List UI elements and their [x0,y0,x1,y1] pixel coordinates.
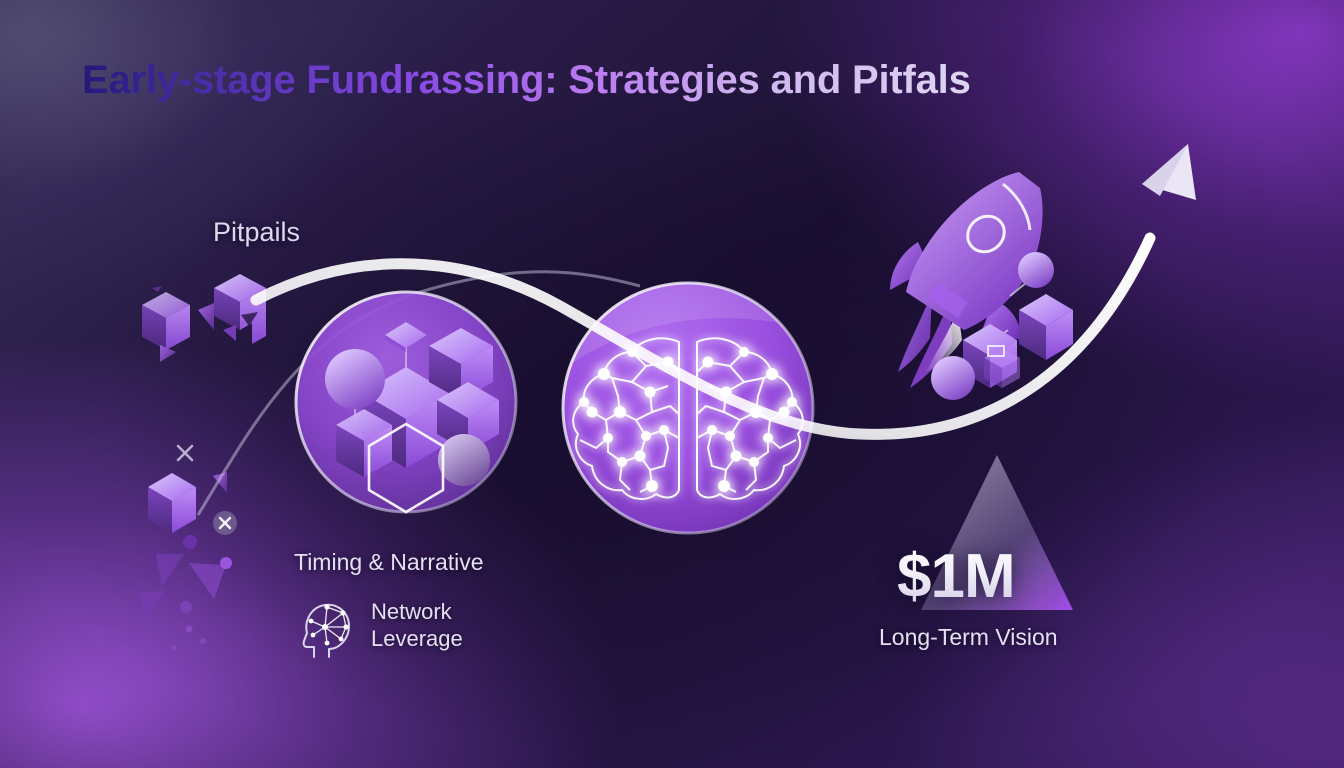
slide-canvas: Early-stage Fundrassing: Strategies and … [0,0,1344,768]
label-network-leverage: Network Leverage [371,598,521,652]
label-long-term-vision: Long-Term Vision [879,624,1058,651]
spacer [0,0,1344,768]
head-network-icon [291,597,355,661]
amount-value: $1M [897,541,1015,612]
label-timing-narrative: Timing & Narrative [294,549,484,576]
page-title: Early-stage Fundrassing: Strategies and … [82,58,971,103]
label-pitpails: Pitpails [213,217,300,248]
